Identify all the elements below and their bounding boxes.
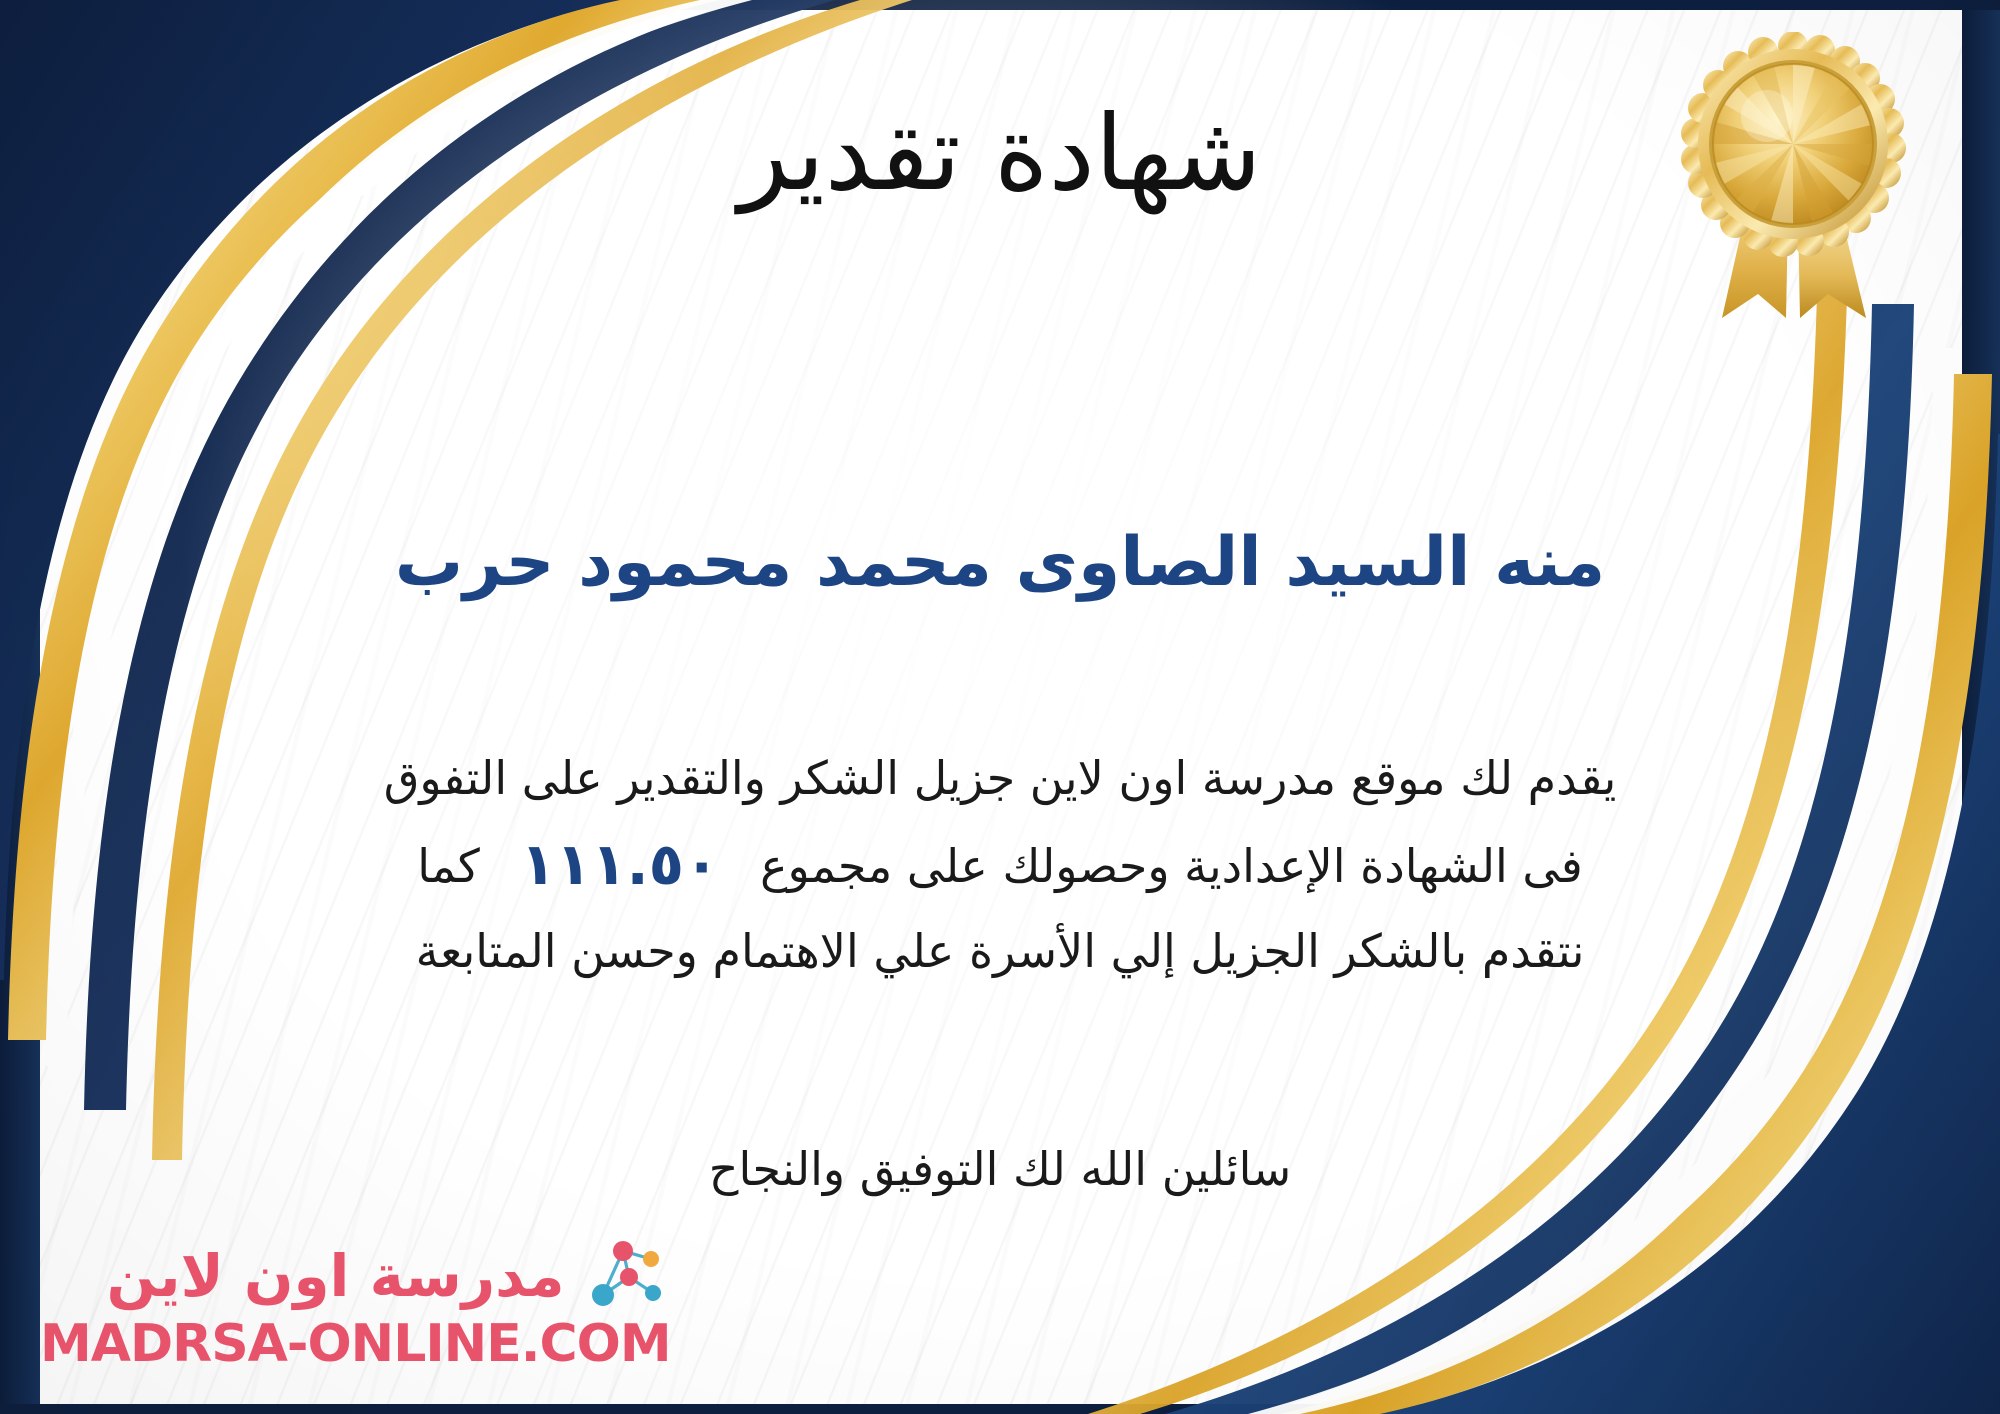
body-line-1: يقدم لك موقع مدرسة اون لاين جزيل الشكر و… (150, 740, 1850, 816)
body-line-3: نتقدم بالشكر الجزيل إلي الأسرة علي الاهت… (150, 913, 1850, 989)
brand-name-arabic: مدرسة اون لاين (107, 1247, 565, 1305)
body-paragraph: يقدم لك موقع مدرسة اون لاين جزيل الشكر و… (150, 740, 1850, 989)
brand-url[interactable]: MADRSA-ONLINE.COM (40, 1317, 671, 1372)
body-line-2: فى الشهادة الإعدادية وحصولك على مجموع ١١… (150, 816, 1850, 912)
page-title: شهادة تقدير (0, 96, 2000, 210)
closing-line: سائلين الله لك التوفيق والنجاح (0, 1135, 2000, 1204)
network-nodes-icon (579, 1237, 671, 1315)
certificate-canvas: شهادة تقدير منه السيد الصاوى محمد محمود … (0, 0, 2000, 1414)
certificate-content: شهادة تقدير منه السيد الصاوى محمد محمود … (0, 0, 2000, 1414)
body-line-2-prefix: فى الشهادة الإعدادية وحصولك على مجموع (760, 839, 1583, 893)
brand-row: مدرسة اون لاين (107, 1237, 671, 1315)
recipient-name: منه السيد الصاوى محمد محمود حرب (0, 520, 2000, 605)
body-line-2-suffix: كما (417, 839, 480, 893)
grade-value: ١١١.٥٠ (520, 816, 719, 912)
brand-logo[interactable]: مدرسة اون لاين (40, 1237, 671, 1372)
